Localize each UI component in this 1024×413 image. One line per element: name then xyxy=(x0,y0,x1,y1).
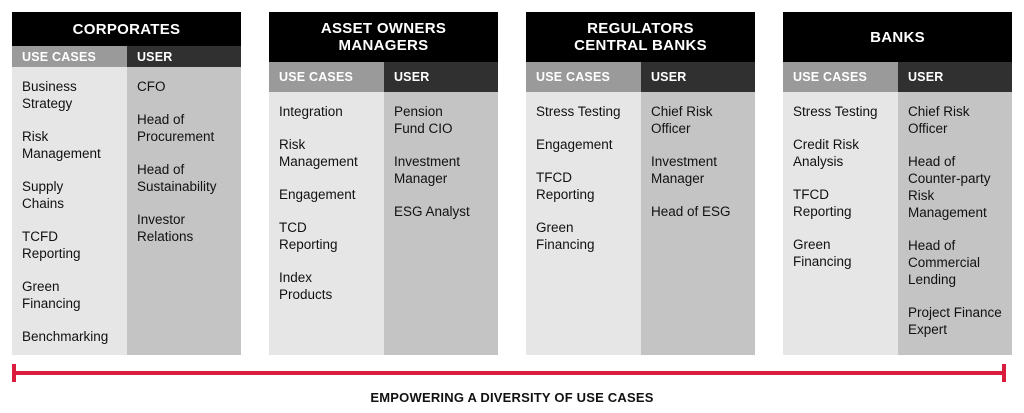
panel-body: Stress Testing Credit Risk Analysis TFCD… xyxy=(783,92,1012,355)
list-item: ESG Analyst xyxy=(394,203,488,220)
panel-body: Business Strategy Risk Management Supply… xyxy=(12,67,241,355)
list-item: Engagement xyxy=(279,186,374,203)
panel-group: CORPORATES USE CASES USER Business Strat… xyxy=(12,12,1012,355)
column-header-user: USER xyxy=(641,62,755,92)
column-header-use-cases: USE CASES xyxy=(269,62,384,92)
list-item: Head of Counter-party Risk Management xyxy=(908,153,1002,221)
list-item: Chief Risk Officer xyxy=(651,103,745,137)
list-item: Supply Chains xyxy=(22,178,117,212)
list-item: Head of Sustainability xyxy=(137,161,231,195)
list-item: Pension Fund CIO xyxy=(394,103,488,137)
list-item: Index Products xyxy=(279,269,374,303)
use-cases-column: Stress Testing Engagement TFCD Reporting… xyxy=(526,92,641,355)
column-header-use-cases: USE CASES xyxy=(783,62,898,92)
column-header-user: USER xyxy=(384,62,498,92)
list-item: CFO xyxy=(137,78,231,95)
list-item: Stress Testing xyxy=(536,103,631,120)
panel-title: CORPORATES xyxy=(12,12,241,46)
list-item: TFCD Reporting xyxy=(793,186,888,220)
bracket-rule xyxy=(12,364,1006,381)
list-item: TCD Reporting xyxy=(279,219,374,253)
panel-regulators-central-banks: REGULATORS CENTRAL BANKS USE CASES USER … xyxy=(526,12,755,355)
list-item: Stress Testing xyxy=(793,103,888,120)
list-item: Green Financing xyxy=(793,236,888,270)
list-item: Investment Manager xyxy=(394,153,488,187)
list-item: Integration xyxy=(279,103,374,120)
panel-title: REGULATORS CENTRAL BANKS xyxy=(526,12,755,62)
user-column: Chief Risk Officer Head of Counter-party… xyxy=(898,92,1012,355)
panel-body: Integration Risk Management Engagement T… xyxy=(269,92,498,355)
list-item: Investor Relations xyxy=(137,211,231,245)
panel-subheader: USE CASES USER xyxy=(783,62,1012,92)
list-item: Engagement xyxy=(536,136,631,153)
list-item: Green Financing xyxy=(536,219,631,253)
figure-caption: EMPOWERING A DIVERSITY OF USE CASES xyxy=(0,390,1024,405)
bracket-line xyxy=(12,371,1006,375)
list-item: TCFD Reporting xyxy=(22,228,117,262)
list-item: Credit Risk Analysis xyxy=(793,136,888,170)
use-cases-column: Integration Risk Management Engagement T… xyxy=(269,92,384,355)
panel-subheader: USE CASES USER xyxy=(269,62,498,92)
panel-subheader: USE CASES USER xyxy=(526,62,755,92)
panel-banks: BANKS USE CASES USER Stress Testing Cred… xyxy=(783,12,1012,355)
panel-title: BANKS xyxy=(783,12,1012,62)
panel-subheader: USE CASES USER xyxy=(12,46,241,67)
panel-corporates: CORPORATES USE CASES USER Business Strat… xyxy=(12,12,241,355)
user-column: Chief Risk Officer Investment Manager He… xyxy=(641,92,755,355)
list-item: Risk Management xyxy=(279,136,374,170)
bracket-cap-right xyxy=(1002,364,1006,382)
list-item: TFCD Reporting xyxy=(536,169,631,203)
list-item: Head of ESG xyxy=(651,203,745,220)
use-cases-diagram: CORPORATES USE CASES USER Business Strat… xyxy=(0,0,1024,413)
panel-asset-owners-managers: ASSET OWNERS MANAGERS USE CASES USER Int… xyxy=(269,12,498,355)
list-item: Head of Commercial Lending xyxy=(908,237,1002,288)
list-item: Head of Procurement xyxy=(137,111,231,145)
list-item: Chief Risk Officer xyxy=(908,103,1002,137)
column-header-user: USER xyxy=(127,46,241,67)
list-item: Business Strategy xyxy=(22,78,117,112)
list-item: Benchmarking xyxy=(22,328,117,345)
list-item: Investment Manager xyxy=(651,153,745,187)
list-item: Project Finance Expert xyxy=(908,304,1002,338)
panel-body: Stress Testing Engagement TFCD Reporting… xyxy=(526,92,755,355)
list-item: Risk Management xyxy=(22,128,117,162)
use-cases-column: Business Strategy Risk Management Supply… xyxy=(12,67,127,355)
column-header-use-cases: USE CASES xyxy=(12,46,127,67)
panel-title: ASSET OWNERS MANAGERS xyxy=(269,12,498,62)
user-column: CFO Head of Procurement Head of Sustaina… xyxy=(127,67,241,355)
list-item: Green Financing xyxy=(22,278,117,312)
column-header-use-cases: USE CASES xyxy=(526,62,641,92)
column-header-user: USER xyxy=(898,62,1012,92)
use-cases-column: Stress Testing Credit Risk Analysis TFCD… xyxy=(783,92,898,355)
user-column: Pension Fund CIO Investment Manager ESG … xyxy=(384,92,498,355)
